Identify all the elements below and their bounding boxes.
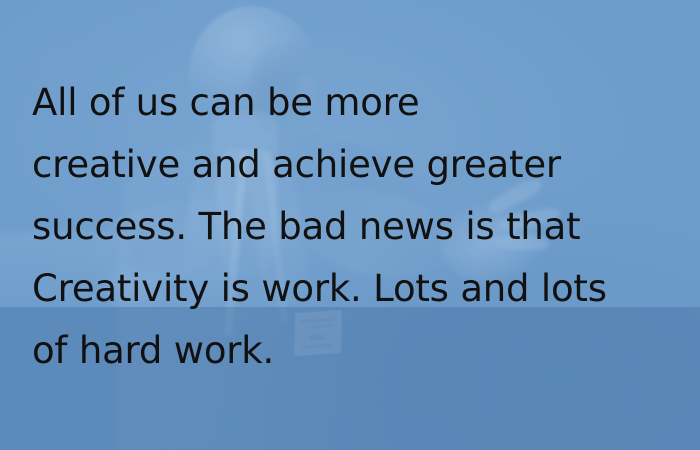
- quote-line-1: All of us can be more: [32, 72, 682, 134]
- quote-card: All of us can be more creative and achie…: [0, 0, 700, 450]
- quote-line-4: Creativity is work. Lots and lots: [32, 258, 682, 320]
- quote-line-3: success. The bad news is that: [32, 196, 682, 258]
- quote-text: All of us can be more creative and achie…: [32, 72, 682, 382]
- quote-line-5: of hard work.: [32, 320, 682, 382]
- quote-line-2: creative and achieve greater: [32, 134, 682, 196]
